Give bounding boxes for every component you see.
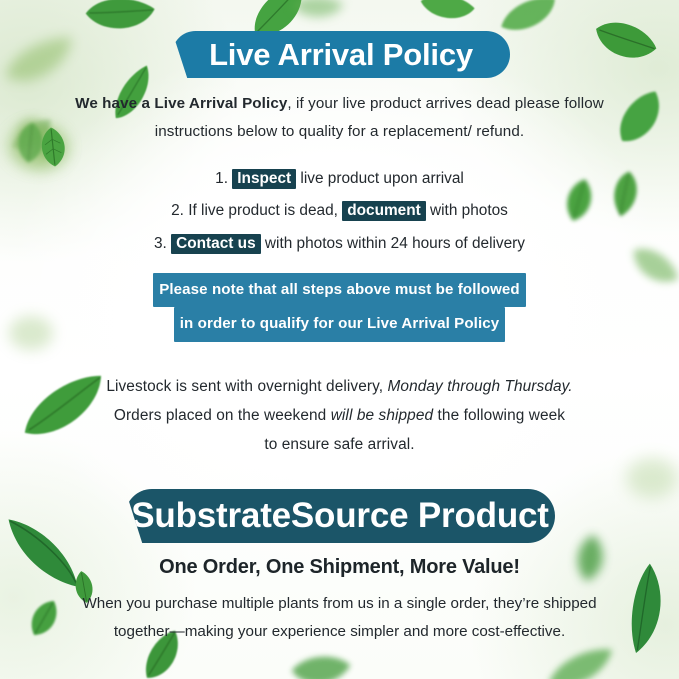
livestock-line2-b: the following week <box>433 407 565 424</box>
intro-bold-lead: We have a Live Arrival Policy <box>75 95 287 112</box>
note-line-1: Please note that all steps above must be… <box>153 273 526 307</box>
live-arrival-policy-infographic: Live Arrival Policy We have a Live Arriv… <box>0 0 679 679</box>
step-before: If live product is dead, <box>184 202 342 219</box>
livestock-line1-italic: Monday through Thursday. <box>387 378 572 395</box>
step-highlight: Inspect <box>232 169 296 189</box>
livestock-line1-a: Livestock is sent with overnight deliver… <box>106 378 387 395</box>
step-number: 1. <box>215 170 228 187</box>
policy-note-block: Please note that all steps above must be… <box>55 273 624 342</box>
note-row: Please note that all steps above must be… <box>55 273 624 307</box>
substratesource-product-banner: SubstrateSource Product <box>125 489 555 543</box>
step-number: 2. <box>171 202 184 219</box>
policy-steps-list: 1. Inspect live product upon arrival 2. … <box>55 163 624 260</box>
list-item: 2. If live product is dead, document wit… <box>55 195 624 227</box>
live-arrival-policy-banner: Live Arrival Policy <box>172 31 510 78</box>
step-after: live product upon arrival <box>296 170 464 187</box>
note-line-2: in order to qualify for our Live Arrival… <box>174 307 506 341</box>
step-highlight: Contact us <box>171 234 261 254</box>
step-after: with photos <box>426 202 508 219</box>
step-after: with photos within 24 hours of delivery <box>261 235 525 252</box>
intro-paragraph: We have a Live Arrival Policy, if your l… <box>60 90 619 145</box>
note-row: in order to qualify for our Live Arrival… <box>55 307 624 341</box>
livestock-shipping-paragraph: Livestock is sent with overnight deliver… <box>85 373 594 460</box>
list-item: 3. Contact us with photos within 24 hour… <box>55 228 624 260</box>
content-layer: Live Arrival Policy We have a Live Arriv… <box>0 0 679 679</box>
livestock-line3: to ensure safe arrival. <box>264 436 414 453</box>
list-item: 1. Inspect live product upon arrival <box>55 163 624 195</box>
bundled-shipping-paragraph: When you purchase multiple plants from u… <box>70 590 609 645</box>
value-subheading: One Order, One Shipment, More Value! <box>55 556 624 579</box>
livestock-line2-a: Orders placed on the weekend <box>114 407 331 424</box>
step-number: 3. <box>154 235 167 252</box>
livestock-line2-italic: will be shipped <box>331 407 433 424</box>
step-highlight: document <box>342 201 426 221</box>
